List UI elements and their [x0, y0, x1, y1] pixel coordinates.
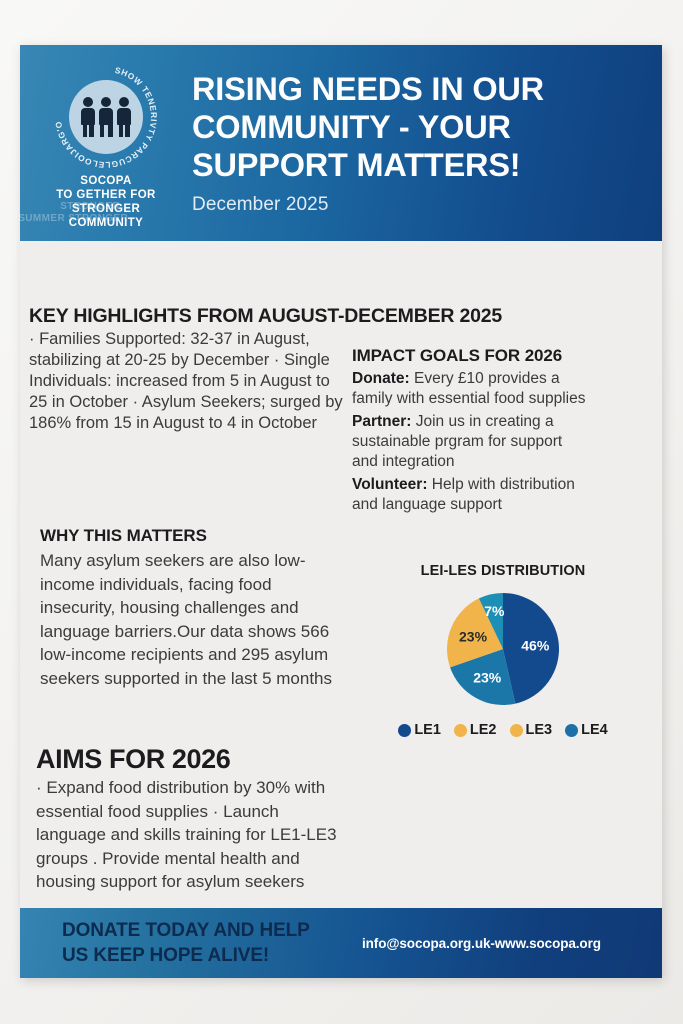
legend-item-le3[interactable]: LE3 [510, 722, 553, 738]
why-this-matters-body: Many asylum seekers are also low-income … [40, 549, 340, 690]
impact-goal-donate-label: Donate: [352, 370, 410, 387]
legend-swatch-icon [398, 724, 411, 737]
aims-heading: AIMS FOR 2026 [36, 744, 348, 775]
chart-title: LEI-LES DISTRIBUTION [358, 563, 648, 579]
header-text-block: RISING NEEDS IN OUR COMMUNITY - YOUR SUP… [192, 70, 558, 216]
legend-label: LE4 [581, 722, 608, 738]
pie-slice-label-le3: 23% [459, 628, 488, 644]
legend-label: LE3 [526, 722, 553, 738]
legend-label: LE2 [470, 722, 497, 738]
donate-cta-line-1: DONATE TODAY AND HELP [62, 918, 362, 943]
page-title: RISING NEEDS IN OUR COMMUNITY - YOUR SUP… [192, 70, 544, 184]
pie-slice-label-le2: 23% [473, 669, 502, 685]
pie-slice-label-le4: 7% [484, 603, 505, 619]
pie-chart-svg: 46%23%23%7% [444, 590, 562, 708]
lei-les-distribution-chart: LEI-LES DISTRIBUTION 46%23%23%7% LE1LE2L… [358, 563, 648, 738]
impact-goals-section: IMPACT GOALS FOR 2026 Donate: Every £10 … [352, 346, 592, 515]
impact-goal-donate: Donate: Every £10 provides a family with… [352, 369, 592, 409]
logo-people-icon [69, 80, 143, 154]
pie-slice-label-le1: 46% [521, 637, 550, 653]
impact-goal-volunteer: Volunteer: Help with distribution and la… [352, 475, 592, 515]
impact-goal-partner: Partner: Join us in creating a sustainab… [352, 412, 592, 472]
why-this-matters-heading: WHY THIS MATTERS [40, 526, 340, 546]
legend-swatch-icon [565, 724, 578, 737]
pie-chart: 46%23%23%7% [358, 590, 648, 708]
key-highlights-heading: KEY HIGHLIGHTS FROM AUGUST-DECEMBER 2025 [29, 305, 349, 328]
page-title-line-2: COMMUNITY - YOUR [192, 108, 544, 146]
poster-stage: SHOW TENERIVTY PARCUGLELOOIJARG'O SOCOPA… [0, 0, 683, 1024]
why-this-matters-section: WHY THIS MATTERS Many asylum seekers are… [40, 526, 340, 690]
legend-item-le1[interactable]: LE1 [398, 722, 441, 738]
legend-swatch-icon [510, 724, 523, 737]
legend-swatch-icon [454, 724, 467, 737]
organization-logo: SHOW TENERIVTY PARCUGLELOOIJARG'O SOCOPA… [26, 53, 186, 233]
poster-sheet: SHOW TENERIVTY PARCUGLELOOIJARG'O SOCOPA… [20, 45, 662, 978]
poster-body: KEY HIGHLIGHTS FROM AUGUST-DECEMBER 2025… [20, 241, 662, 908]
poster-header: SHOW TENERIVTY PARCUGLELOOIJARG'O SOCOPA… [20, 45, 662, 241]
legend-item-le2[interactable]: LE2 [454, 722, 497, 738]
legend-item-le4[interactable]: LE4 [565, 722, 608, 738]
poster-footer: DONATE TODAY AND HELP US KEEP HOPE ALIVE… [20, 908, 662, 978]
contact-info[interactable]: info@socopa.org.uk-www.socopa.org [362, 936, 601, 951]
logo-name-line-1: SOCOPA [56, 174, 156, 188]
poster-date: December 2025 [192, 194, 544, 216]
impact-goal-partner-label: Partner: [352, 413, 411, 430]
donate-cta-line-2: US KEEP HOPE ALIVE! [62, 943, 362, 968]
impact-goals-heading: IMPACT GOALS FOR 2026 [352, 346, 592, 366]
impact-goal-volunteer-label: Volunteer: [352, 476, 428, 493]
page-title-line-3: SUPPORT MATTERS! [192, 146, 544, 184]
donate-cta[interactable]: DONATE TODAY AND HELP US KEEP HOPE ALIVE… [62, 918, 362, 968]
logo-wordmark: SOCOPA TO GETHER FOR STRONGER COMMUNITY … [56, 174, 156, 230]
aims-section: AIMS FOR 2026 · Expand food distribution… [36, 744, 348, 894]
legend-label: LE1 [414, 722, 441, 738]
aims-body: · Expand food distribution by 30% with e… [36, 776, 348, 894]
logo-emblem: SHOW TENERIVTY PARCUGLELOOIJARG'O [54, 65, 158, 169]
logo-ghost-text-2: SUMMER STRONGER [18, 212, 128, 226]
chart-legend: LE1LE2LE3LE4 [358, 722, 648, 738]
key-highlights-section: KEY HIGHLIGHTS FROM AUGUST-DECEMBER 2025… [29, 305, 349, 434]
key-highlights-body: · Families Supported: 32-37 in August, s… [29, 329, 349, 434]
page-title-line-1: RISING NEEDS IN OUR [192, 70, 544, 108]
